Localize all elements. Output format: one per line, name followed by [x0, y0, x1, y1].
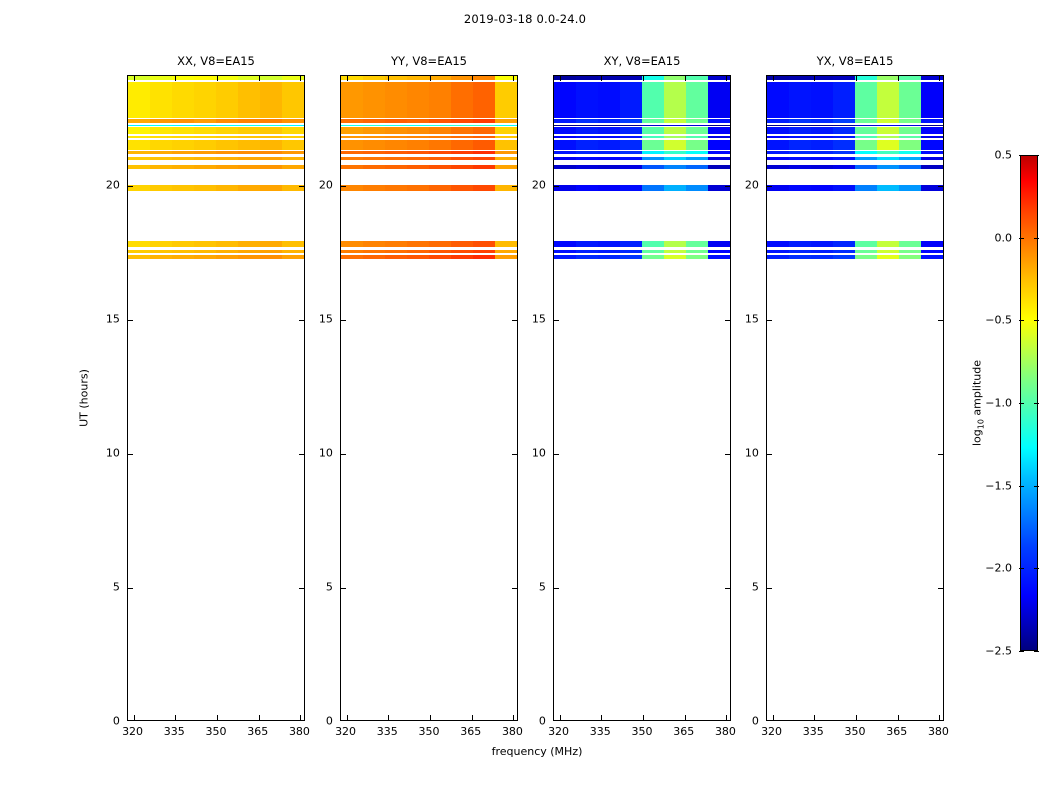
x-tick-mark [347, 76, 348, 81]
heatmap-band [128, 185, 304, 190]
x-tick-mark [814, 715, 815, 720]
colorbar-tick-mark [1034, 568, 1039, 569]
panel-yx[interactable]: YX, V8=EA1505101520320335350365380 [766, 75, 944, 721]
x-tick-mark [939, 715, 940, 720]
y-tick-label: 0 [752, 715, 759, 728]
heatmap-band [554, 241, 730, 247]
colorbar-label-tail: amplitude [970, 360, 983, 419]
y-tick-mark [767, 454, 772, 455]
x-tick-label: 350 [845, 725, 866, 738]
y-tick-mark [554, 588, 559, 589]
x-tick-mark [388, 76, 389, 81]
x-tick-label: 365 [460, 725, 481, 738]
colorbar-label-main: log [970, 429, 983, 446]
heatmap-band [341, 241, 517, 247]
heatmap-band [128, 157, 304, 160]
y-tick-mark [299, 186, 304, 187]
y-tick-mark [554, 454, 559, 455]
y-tick-mark [128, 588, 133, 589]
panel-title-xx: XX, V8=EA15 [127, 54, 305, 68]
x-tick-label: 335 [377, 725, 398, 738]
y-tick-label: 0 [539, 715, 546, 728]
heatmap-band [128, 151, 304, 154]
heatmap-band [554, 185, 730, 190]
x-tick-label: 380 [715, 725, 736, 738]
x-tick-label: 320 [548, 725, 569, 738]
colorbar-label-sub: 10 [977, 419, 986, 429]
y-tick-label: 10 [319, 446, 333, 459]
colorbar-tick-mark [1019, 320, 1024, 321]
y-tick-mark [341, 186, 346, 187]
x-tick-label: 380 [928, 725, 949, 738]
x-tick-mark [259, 76, 260, 81]
heatmap-band [128, 76, 304, 80]
colorbar-tick-label: −2.5 [985, 645, 1012, 658]
heatmap-band [128, 255, 304, 259]
panel-title-yx: YX, V8=EA15 [766, 54, 944, 68]
x-tick-label: 335 [590, 725, 611, 738]
x-tick-label: 350 [206, 725, 227, 738]
y-tick-mark [938, 320, 943, 321]
colorbar-tick-mark [1034, 238, 1039, 239]
heatmap-band [554, 140, 730, 150]
y-tick-label: 20 [106, 178, 120, 191]
y-tick-label: 0 [326, 715, 333, 728]
x-tick-mark [347, 715, 348, 720]
colorbar-tick-mark [1019, 155, 1024, 156]
heatmap-band [128, 250, 304, 253]
y-tick-mark [299, 588, 304, 589]
panel-title-yy: YY, V8=EA15 [340, 54, 518, 68]
heatmap-band [341, 165, 517, 169]
x-tick-label: 335 [803, 725, 824, 738]
heatmap-band [767, 255, 943, 259]
x-tick-mark [814, 76, 815, 81]
heatmap-data-xx [128, 76, 304, 720]
y-tick-label: 10 [106, 446, 120, 459]
y-tick-label: 20 [319, 178, 333, 191]
x-tick-label: 365 [247, 725, 268, 738]
x-tick-mark [300, 76, 301, 81]
x-tick-mark [898, 76, 899, 81]
y-tick-mark [512, 186, 517, 187]
colorbar-tick-mark [1034, 486, 1039, 487]
y-tick-mark [341, 588, 346, 589]
heatmap-band [767, 136, 943, 138]
x-tick-mark [560, 76, 561, 81]
y-tick-label: 20 [745, 178, 759, 191]
heatmap-band [767, 76, 943, 80]
heatmap-band [341, 127, 517, 134]
heatmap-band [554, 136, 730, 138]
heatmap-band [128, 241, 304, 247]
x-tick-mark [134, 715, 135, 720]
x-tick-label: 350 [419, 725, 440, 738]
y-tick-mark [767, 588, 772, 589]
y-tick-label: 10 [745, 446, 759, 459]
heatmap-band [554, 125, 730, 127]
heatmap-band [341, 185, 517, 190]
x-tick-mark [513, 715, 514, 720]
x-tick-mark [856, 715, 857, 720]
y-tick-mark [725, 320, 730, 321]
colorbar-tick-mark [1034, 651, 1039, 652]
y-tick-mark [938, 588, 943, 589]
heatmap-band [554, 255, 730, 259]
x-axis-label: frequency (MHz) [492, 745, 583, 758]
x-tick-mark [217, 76, 218, 81]
y-tick-mark [341, 454, 346, 455]
y-tick-mark [128, 186, 133, 187]
x-tick-label: 365 [673, 725, 694, 738]
figure-canvas: 2019-03-18 0.0-24.0 XX, V8=EA15051015203… [0, 0, 1050, 800]
y-tick-label: 5 [539, 580, 546, 593]
y-tick-mark [767, 186, 772, 187]
heatmap-band [128, 127, 304, 134]
x-tick-mark [601, 76, 602, 81]
x-tick-label: 365 [886, 725, 907, 738]
panel-axes-frame [340, 75, 518, 721]
heatmap-band [554, 157, 730, 160]
y-tick-mark [725, 186, 730, 187]
colorbar-tick-label: −1.0 [985, 397, 1012, 410]
y-tick-label: 5 [113, 580, 120, 593]
x-tick-mark [939, 76, 940, 81]
x-tick-mark [134, 76, 135, 81]
heatmap-band [341, 119, 517, 124]
x-tick-mark [643, 715, 644, 720]
x-tick-mark [726, 76, 727, 81]
x-tick-mark [560, 715, 561, 720]
heatmap-data-xy [554, 76, 730, 720]
colorbar-label: log10 amplitude [970, 360, 985, 446]
heatmap-band [341, 76, 517, 80]
colorbar-tick-mark [1019, 403, 1024, 404]
heatmap-band [767, 165, 943, 169]
y-tick-mark [512, 320, 517, 321]
y-tick-mark [938, 454, 943, 455]
x-tick-mark [773, 715, 774, 720]
colorbar-tick-label: 0.0 [995, 231, 1013, 244]
y-tick-label: 15 [745, 312, 759, 325]
x-tick-mark [300, 715, 301, 720]
y-tick-label: 5 [326, 580, 333, 593]
panel-xy[interactable]: XY, V8=EA1505101520320335350365380 [553, 75, 731, 721]
x-tick-label: 320 [335, 725, 356, 738]
x-tick-label: 335 [164, 725, 185, 738]
x-tick-mark [685, 715, 686, 720]
heatmap-data-yx [767, 76, 943, 720]
y-tick-mark [725, 588, 730, 589]
y-tick-mark [128, 320, 133, 321]
y-tick-mark [512, 454, 517, 455]
x-tick-mark [259, 715, 260, 720]
x-tick-label: 320 [122, 725, 143, 738]
x-tick-mark [217, 715, 218, 720]
x-tick-mark [175, 76, 176, 81]
x-tick-mark [601, 715, 602, 720]
heatmap-band [767, 119, 943, 124]
panel-xx[interactable]: XX, V8=EA1505101520320335350365380 [127, 75, 305, 721]
heatmap-data-yy [341, 76, 517, 720]
heatmap-band [554, 127, 730, 134]
colorbar-tick-label: −1.5 [985, 479, 1012, 492]
x-tick-mark [513, 76, 514, 81]
heatmap-band [341, 151, 517, 154]
colorbar-tick-mark [1019, 238, 1024, 239]
y-tick-mark [938, 186, 943, 187]
y-tick-mark [725, 454, 730, 455]
x-tick-mark [388, 715, 389, 720]
colorbar-tick-label: −0.5 [985, 314, 1012, 327]
panel-axes-frame [127, 75, 305, 721]
y-axis-label: UT (hours) [78, 369, 91, 427]
heatmap-band [554, 76, 730, 80]
x-tick-mark [685, 76, 686, 81]
colorbar[interactable]: 0.50.0−0.5−1.0−1.5−2.0−2.5 [1020, 155, 1038, 651]
y-tick-mark [512, 588, 517, 589]
heatmap-band [128, 125, 304, 127]
colorbar-tick-mark [1034, 155, 1039, 156]
heatmap-band [767, 185, 943, 190]
heatmap-band [554, 119, 730, 124]
x-tick-mark [430, 715, 431, 720]
y-tick-mark [554, 186, 559, 187]
y-tick-label: 15 [106, 312, 120, 325]
x-tick-mark [643, 76, 644, 81]
heatmap-band [128, 82, 304, 118]
heatmap-band [341, 157, 517, 160]
x-tick-mark [430, 76, 431, 81]
y-tick-label: 15 [532, 312, 546, 325]
x-tick-label: 380 [289, 725, 310, 738]
heatmap-band [554, 165, 730, 169]
y-tick-label: 0 [113, 715, 120, 728]
panel-yy[interactable]: YY, V8=EA1505101520320335350365380 [340, 75, 518, 721]
x-tick-label: 320 [761, 725, 782, 738]
x-tick-mark [472, 715, 473, 720]
heatmap-band [767, 151, 943, 154]
colorbar-tick-mark [1019, 651, 1024, 652]
x-tick-mark [175, 715, 176, 720]
colorbar-tick-mark [1019, 568, 1024, 569]
heatmap-band [341, 125, 517, 127]
x-tick-label: 380 [502, 725, 523, 738]
x-tick-mark [472, 76, 473, 81]
heatmap-band [128, 140, 304, 150]
panel-axes-frame [553, 75, 731, 721]
heatmap-band [554, 250, 730, 253]
colorbar-tick-label: 0.5 [995, 149, 1013, 162]
heatmap-band [341, 250, 517, 253]
x-tick-mark [726, 715, 727, 720]
heatmap-band [767, 82, 943, 118]
y-tick-mark [299, 454, 304, 455]
heatmap-band [128, 165, 304, 169]
x-tick-mark [898, 715, 899, 720]
y-tick-label: 5 [752, 580, 759, 593]
colorbar-tick-label: −2.0 [985, 562, 1012, 575]
y-tick-mark [128, 454, 133, 455]
heatmap-band [767, 250, 943, 253]
heatmap-band [554, 151, 730, 154]
x-tick-mark [856, 76, 857, 81]
heatmap-band [767, 125, 943, 127]
heatmap-band [554, 82, 730, 118]
heatmap-band [767, 127, 943, 134]
y-tick-label: 15 [319, 312, 333, 325]
heatmap-band [341, 136, 517, 138]
y-tick-mark [341, 320, 346, 321]
heatmap-band [128, 119, 304, 124]
x-tick-label: 350 [632, 725, 653, 738]
y-tick-mark [299, 320, 304, 321]
colorbar-tick-mark [1034, 320, 1039, 321]
heatmap-band [341, 255, 517, 259]
colorbar-tick-mark [1034, 403, 1039, 404]
heatmap-band [341, 140, 517, 150]
y-tick-label: 20 [532, 178, 546, 191]
figure-suptitle: 2019-03-18 0.0-24.0 [0, 12, 1050, 26]
y-tick-mark [554, 320, 559, 321]
heatmap-band [767, 140, 943, 150]
y-tick-mark [767, 320, 772, 321]
panel-axes-frame [766, 75, 944, 721]
heatmap-band [341, 82, 517, 118]
heatmap-band [128, 136, 304, 138]
colorbar-tick-mark [1019, 486, 1024, 487]
heatmap-band [767, 157, 943, 160]
y-tick-label: 10 [532, 446, 546, 459]
panel-title-xy: XY, V8=EA15 [553, 54, 731, 68]
x-tick-mark [773, 76, 774, 81]
heatmap-band [767, 241, 943, 247]
